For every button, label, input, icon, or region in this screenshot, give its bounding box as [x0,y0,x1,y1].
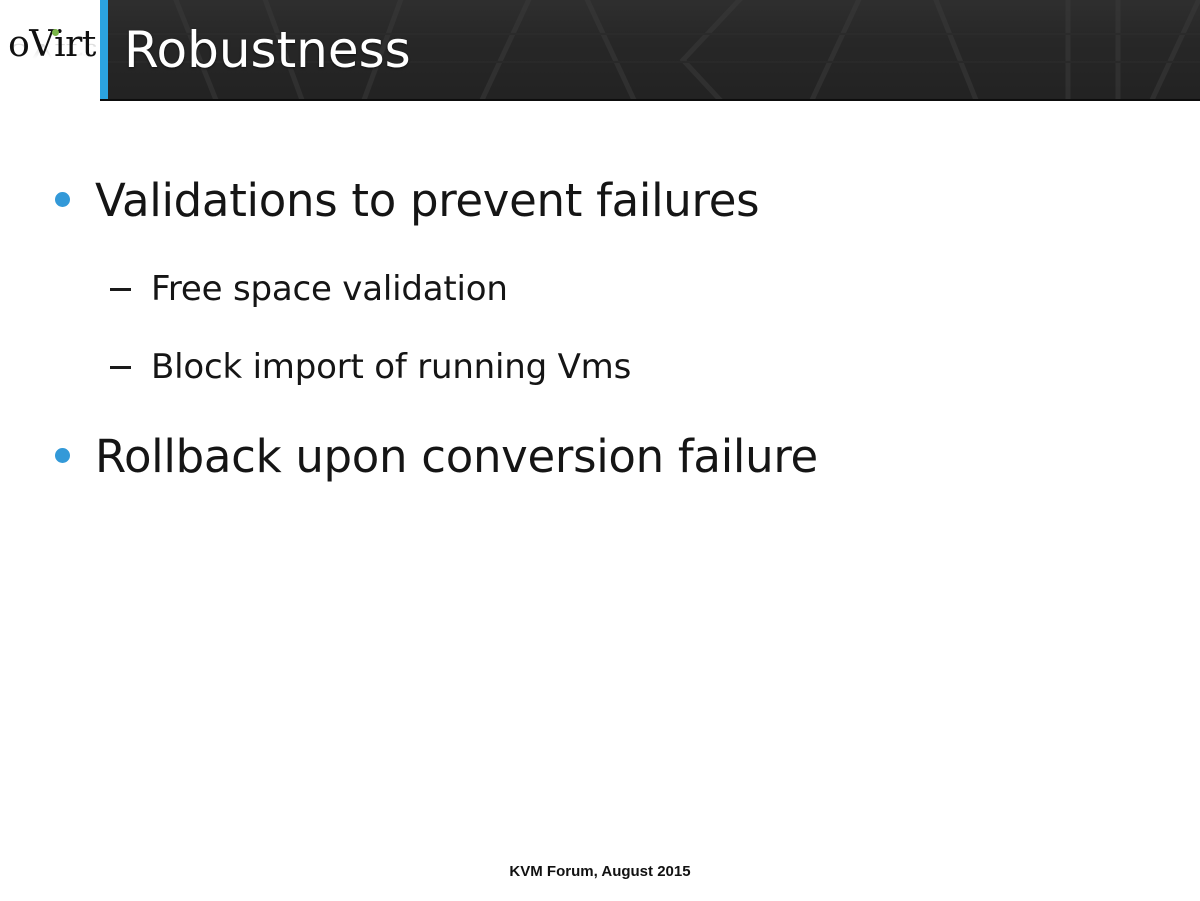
bullet-item: Validations to prevent failures [55,175,759,227]
header-accent-bar [100,0,108,101]
slide: oVirt oVirt [0,0,1200,901]
bullet-dash-icon [110,366,131,369]
sub-bullet-item: Free space validation [110,269,508,309]
slide-body: Validations to prevent failures Free spa… [0,101,1200,841]
bullet-text: Validations to prevent failures [95,175,759,227]
bullet-dot-icon [55,192,70,207]
bullet-dot-icon [55,448,70,463]
slide-header: oVirt oVirt [0,0,1200,101]
logo-area: oVirt oVirt [0,0,100,101]
ovirt-logo-green-dot-icon [52,29,59,36]
sub-bullet-item: Block import of running Vms [110,347,631,387]
sub-bullet-text: Block import of running Vms [151,347,631,387]
ovirt-logo: oVirt oVirt [6,24,98,94]
page-title: Robustness [124,18,411,82]
slide-footer: KVM Forum, August 2015 [0,862,1200,882]
bullet-text: Rollback upon conversion failure [95,431,818,483]
bullet-dash-icon [110,288,131,291]
ovirt-logo-reflection: oVirt [6,38,98,64]
bullet-item: Rollback upon conversion failure [55,431,818,483]
sub-bullet-text: Free space validation [151,269,508,309]
